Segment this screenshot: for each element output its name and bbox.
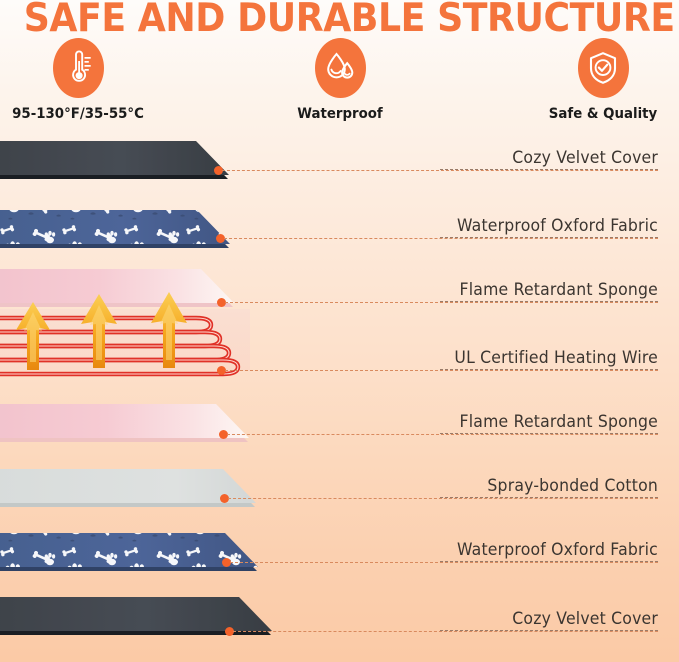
layer-label-4-rule xyxy=(440,369,658,370)
layer-slab-3 xyxy=(0,269,234,307)
leader-line-4 xyxy=(225,370,658,371)
leader-line-5 xyxy=(227,434,658,435)
layer-label-4: UL Certified Heating Wire xyxy=(440,348,658,370)
layer-label-5-text: Flame Retardant Sponge xyxy=(451,412,658,431)
leader-line-3 xyxy=(225,302,658,303)
layer-label-2-text: Waterproof Oxford Fabric xyxy=(451,216,658,235)
layer-label-3: Flame Retardant Sponge xyxy=(440,280,658,302)
feature-waterproof: Waterproof xyxy=(250,38,430,122)
leader-line-2 xyxy=(224,238,658,239)
leader-line-7 xyxy=(230,562,658,563)
layer-label-8: Cozy Velvet Cover xyxy=(440,609,658,631)
layer-label-6-rule xyxy=(440,497,658,498)
layer-label-8-rule xyxy=(440,630,658,631)
page-title: SAFE AND DURABLE STRUCTURE xyxy=(24,0,655,40)
layer-label-6: Spray-bonded Cotton xyxy=(440,476,658,498)
layer-label-1-text: Cozy Velvet Cover xyxy=(451,148,658,167)
layer-label-3-rule xyxy=(440,301,658,302)
feature-waterproof-label: Waterproof xyxy=(257,106,423,122)
infographic-canvas: SAFE AND DURABLE STRUCTURE 95-130°F/35-5… xyxy=(0,0,679,662)
layer-label-5: Flame Retardant Sponge xyxy=(440,412,658,434)
layer-label-3-text: Flame Retardant Sponge xyxy=(451,280,658,299)
safe-quality-badge xyxy=(578,38,629,98)
layer-label-1: Cozy Velvet Cover xyxy=(440,148,658,170)
thermometer-badge xyxy=(53,38,104,98)
layer-label-1-rule xyxy=(440,169,658,170)
layer-slab-2 xyxy=(0,210,230,248)
feature-temperature: 95-130°F/35-55°C xyxy=(0,38,168,122)
layer-label-2: Waterproof Oxford Fabric xyxy=(440,216,658,238)
layer-label-8-text: Cozy Velvet Cover xyxy=(451,609,658,628)
layer-label-7: Waterproof Oxford Fabric xyxy=(440,540,658,562)
feature-safe-label: Safe & Quality xyxy=(520,106,679,122)
layer-label-7-rule xyxy=(440,561,658,562)
feature-safe-quality: Safe & Quality xyxy=(513,38,679,122)
leader-line-6 xyxy=(228,498,658,499)
layer-label-6-text: Spray-bonded Cotton xyxy=(451,476,658,495)
layer-label-7-text: Waterproof Oxford Fabric xyxy=(451,540,658,559)
layer-label-2-rule xyxy=(440,237,658,238)
layer-stack-diagram xyxy=(0,132,679,662)
thermometer-icon xyxy=(63,50,93,86)
layer-slab-5 xyxy=(0,404,249,442)
layer-slab-1 xyxy=(0,141,229,179)
layer-slab-6 xyxy=(0,469,256,507)
leader-line-1 xyxy=(222,170,658,171)
leader-line-8 xyxy=(233,631,658,632)
layer-label-5-rule xyxy=(440,433,658,434)
layer-label-4-text: UL Certified Heating Wire xyxy=(451,348,658,367)
water-drop-icon xyxy=(323,50,357,86)
feature-temperature-label: 95-130°F/35-55°C xyxy=(0,106,161,122)
layer-slab-7 xyxy=(0,533,258,571)
waterproof-badge xyxy=(315,38,366,98)
shield-check-icon xyxy=(587,50,619,86)
